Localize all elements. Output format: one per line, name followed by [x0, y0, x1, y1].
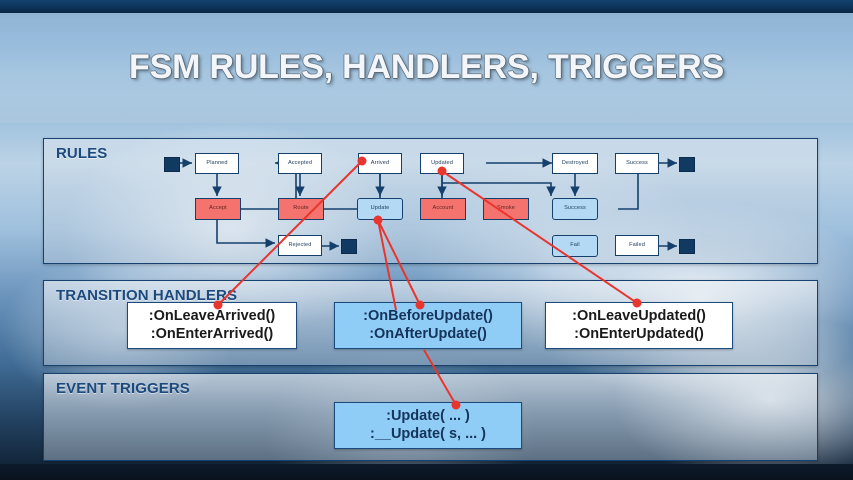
fsm-action-accept[interactable]: Accept	[195, 198, 241, 220]
fsm-action-route[interactable]: Route	[278, 198, 324, 220]
triggers-box-update-trigger[interactable]: :Update( ... ):__Update( s, ... )	[334, 402, 522, 449]
fsm-node-label: Accepted	[288, 161, 312, 167]
bottom-accent-bar	[0, 464, 853, 480]
handlers-line: :OnEnterArrived()	[151, 326, 273, 343]
fsm-state-arrived[interactable]: Arrived	[358, 153, 402, 174]
fsm-state-rejected[interactable]: Rejected	[278, 235, 322, 256]
fsm-terminal-end-success	[679, 157, 695, 172]
handlers-box-update[interactable]: :OnBeforeUpdate():OnAfterUpdate()	[334, 302, 522, 349]
fsm-action-update[interactable]: Update	[357, 198, 403, 220]
handlers-box-arrived[interactable]: :OnLeaveArrived():OnEnterArrived()	[127, 302, 297, 349]
fsm-state-failed[interactable]: Failed	[615, 235, 659, 256]
fsm-terminal-end-rejected	[341, 239, 357, 254]
triggers-line: :__Update( s, ... )	[370, 426, 486, 443]
fsm-node-label: Updated	[431, 161, 453, 167]
fsm-action-smoke[interactable]: Smoke	[483, 198, 529, 220]
fsm-state-destroyed[interactable]: Destroyed	[552, 153, 598, 174]
handlers-line: :OnLeaveUpdated()	[572, 308, 706, 325]
fsm-node-label: Success	[626, 161, 648, 167]
panel-triggers-title: EVENT TRIGGERS	[56, 380, 190, 397]
slide-root: FSM RULES, HANDLERS, TRIGGERS RULES	[0, 0, 853, 480]
fsm-state-accepted[interactable]: Accepted	[278, 153, 322, 174]
handlers-line: :OnBeforeUpdate()	[363, 308, 493, 325]
fsm-node-label: Arrived	[371, 161, 389, 167]
fsm-diagram: PlannedAcceptedArrivedUpdatedDestroyedSu…	[44, 139, 819, 265]
fsm-node-label: Smoke	[497, 206, 515, 212]
handlers-box-updated[interactable]: :OnLeaveUpdated():OnEnterUpdated()	[545, 302, 733, 349]
fsm-action-account[interactable]: Account	[420, 198, 466, 220]
handlers-line: :OnAfterUpdate()	[369, 326, 487, 343]
fsm-terminal-start	[164, 157, 180, 172]
fsm-state-updated[interactable]: Updated	[420, 153, 464, 174]
fsm-action-success[interactable]: Success	[552, 198, 598, 220]
top-accent-bar	[0, 0, 853, 13]
fsm-node-label: Destroyed	[562, 161, 588, 167]
fsm-node-label: Failed	[629, 243, 645, 249]
fsm-node-label: Success	[564, 206, 586, 212]
fsm-node-label: Rejected	[289, 243, 312, 249]
fsm-node-label: Update	[371, 206, 390, 212]
fsm-action-fail[interactable]: Fail	[552, 235, 598, 257]
page-title: FSM RULES, HANDLERS, TRIGGERS	[0, 48, 853, 87]
panel-rules: RULES	[43, 138, 818, 264]
fsm-node-label: Planned	[206, 161, 227, 167]
fsm-node-label: Accept	[209, 206, 227, 212]
fsm-node-label: Route	[293, 206, 308, 212]
fsm-state-planned[interactable]: Planned	[195, 153, 239, 174]
fsm-terminal-end-failed	[679, 239, 695, 254]
handlers-line: :OnEnterUpdated()	[574, 326, 704, 343]
fsm-state-success[interactable]: Success	[615, 153, 659, 174]
triggers-line: :Update( ... )	[386, 408, 470, 425]
fsm-node-label: Account	[433, 206, 454, 212]
handlers-line: :OnLeaveArrived()	[149, 308, 276, 325]
fsm-node-label: Fail	[570, 243, 579, 249]
